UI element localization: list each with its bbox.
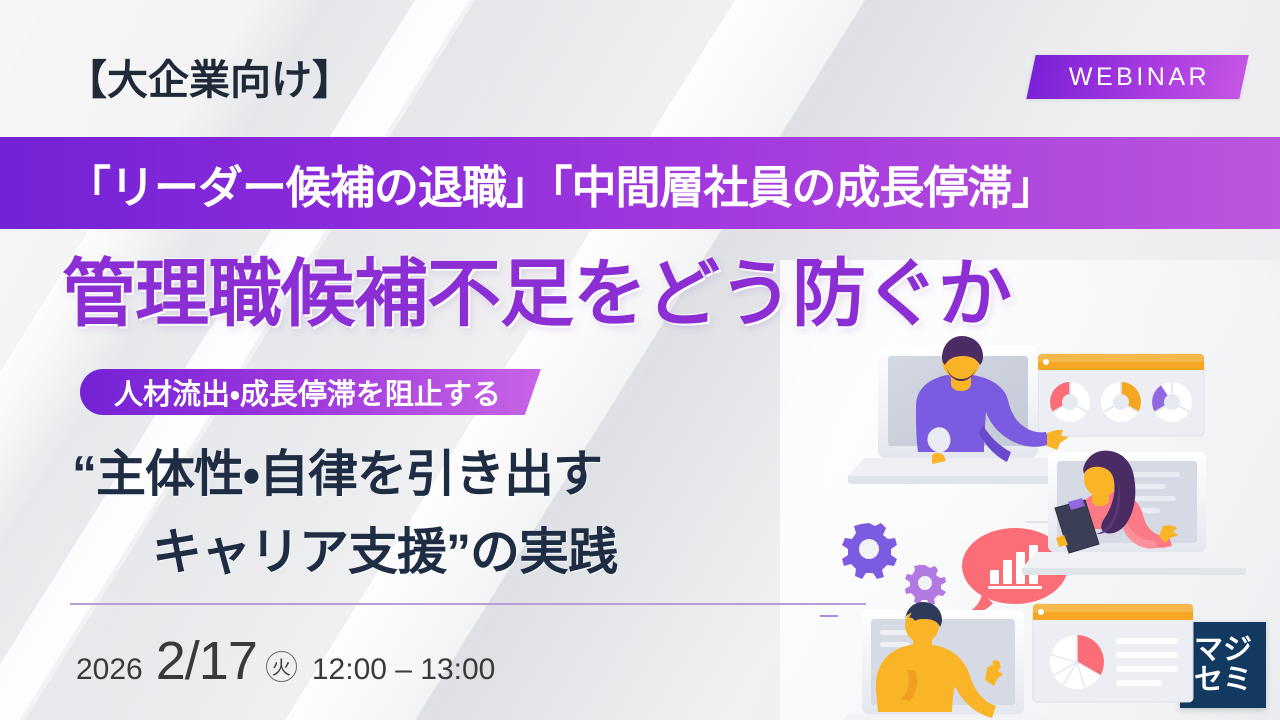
divider [70, 603, 866, 605]
band-text: 「リーダー候補の退職」「中間層社員の成長停滞」 [66, 151, 1056, 216]
purple-band: 「リーダー候補の退職」「中間層社員の成長停滞」 [0, 137, 1280, 229]
donut-chart-window [1038, 354, 1204, 436]
gear-small [905, 565, 946, 605]
subtitle-tag: 人材流出・成長停滞を阻止する [80, 369, 541, 415]
webinar-illustration [820, 330, 1220, 720]
laptop-pink-woman [1022, 451, 1246, 575]
schedule-day-of-week: 火 [266, 651, 297, 682]
webinar-banner: 【大企業向け】 WEBINAR 「リーダー候補の退職」「中間層社員の成長停滞」 … [0, 0, 1280, 720]
webinar-badge: WEBINAR [1026, 55, 1249, 99]
quote-line-2: キャリア支援”の実践 [152, 512, 617, 584]
schedule-time: 12:00 – 13:00 [312, 653, 496, 687]
quote-line-1: “主体性・自律を引き出す [72, 434, 602, 506]
schedule-year: 2026 [76, 653, 143, 687]
pie-chart-card [1033, 604, 1193, 702]
subtitle-tag-label: 人材流出・成長停滞を阻止する [114, 371, 501, 413]
schedule-row: 2026 2/17 火 12:00 – 13:00 [76, 630, 495, 692]
gear-large [842, 523, 897, 579]
webinar-badge-label: WEBINAR [1069, 63, 1210, 92]
schedule-date: 2/17 [156, 630, 257, 692]
kicker-text: 【大企業向け】 [66, 46, 353, 106]
page-title: 管理職候補不足をどう防ぐか [62, 234, 1011, 341]
